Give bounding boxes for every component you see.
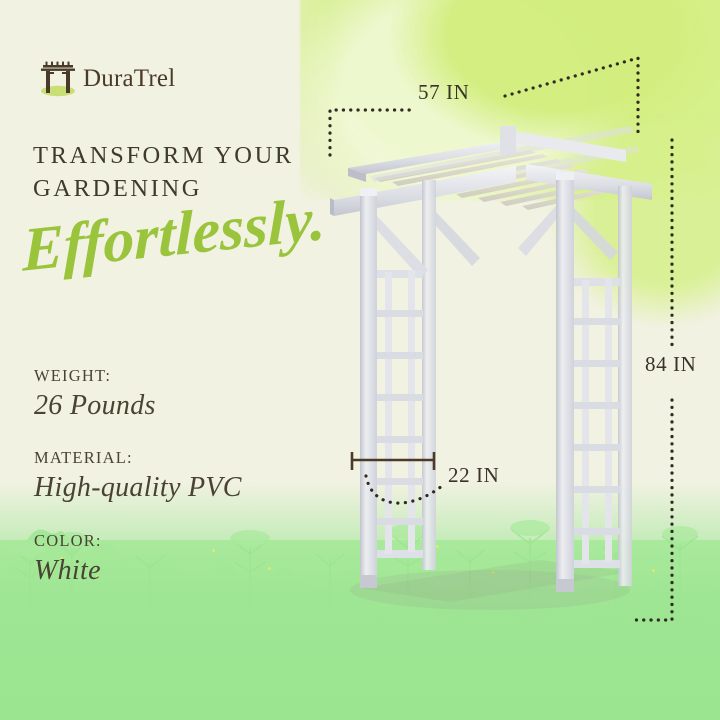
script-word: Effortlessly. <box>26 198 356 303</box>
arbor-illustration <box>330 120 660 640</box>
spec-value-weight: 26 Pounds <box>34 389 324 423</box>
spec-label-color: COLOR: <box>34 531 324 551</box>
infographic-canvas: DuraTrel TRANSFORM YOUR GARDENING Effort… <box>0 0 720 720</box>
spec-value-color: White <box>34 554 324 588</box>
dimension-label-width: 57 IN <box>418 80 469 105</box>
product-image-arbor <box>330 120 660 640</box>
brand-name: DuraTrel <box>83 66 175 91</box>
spec-list: WEIGHT: 26 Pounds MATERIAL: High-quality… <box>34 366 324 613</box>
headline-script: Effortlessly. <box>26 198 356 303</box>
spec-label-material: MATERIAL: <box>34 448 324 468</box>
spec-item-weight: WEIGHT: 26 Pounds <box>34 366 324 422</box>
svg-text:Effortlessly.: Effortlessly. <box>21 185 325 285</box>
spec-item-material: MATERIAL: High-quality PVC <box>34 448 324 504</box>
spec-value-material: High-quality PVC <box>34 471 324 505</box>
arbor-pergola-icon <box>40 58 76 98</box>
spec-item-color: COLOR: White <box>34 531 324 587</box>
spec-label-weight: WEIGHT: <box>34 366 324 386</box>
headline-line-1: TRANSFORM YOUR <box>33 140 333 173</box>
lattice-panel-right <box>574 278 620 568</box>
brand-logo[interactable]: DuraTrel <box>40 58 175 98</box>
lattice-panel-left <box>377 270 423 558</box>
